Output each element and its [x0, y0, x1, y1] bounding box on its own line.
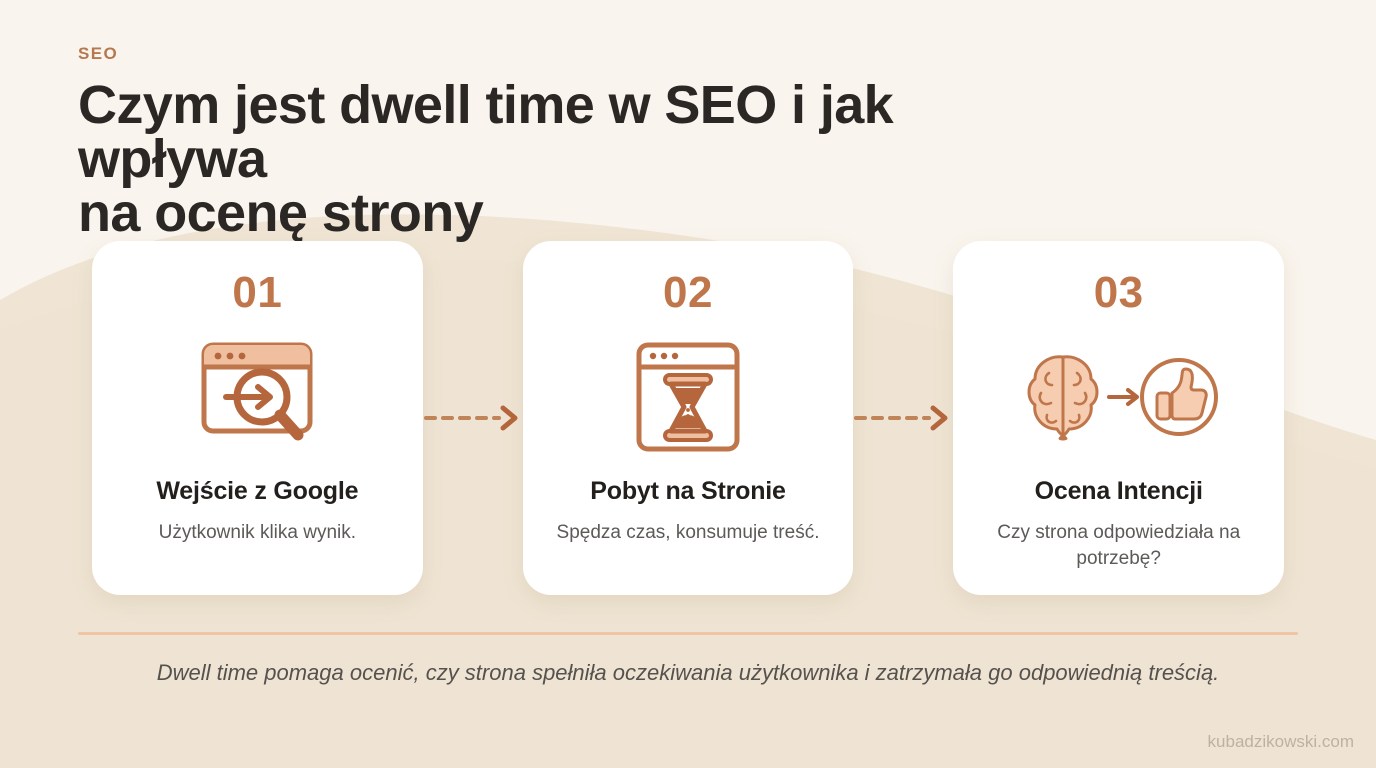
page-title: Czym jest dwell time w SEO i jak wpływa …	[78, 78, 958, 240]
brain-icon	[1029, 357, 1097, 439]
dashed-arrow-right-icon	[853, 403, 953, 433]
step-description: Spędza czas, konsumuje treść.	[557, 520, 820, 546]
step-number: 03	[1094, 271, 1144, 315]
step-number: 02	[663, 271, 713, 315]
step-number: 01	[232, 271, 282, 315]
step-description: Użytkownik klika wynik.	[159, 520, 356, 546]
step-title: Ocena Intencji	[1035, 477, 1203, 506]
brain-arrow-thumbsup-icon	[1019, 339, 1219, 455]
footer-note: Dwell time pomaga ocenić, czy strona spe…	[0, 660, 1376, 686]
step-title: Wejście z Google	[156, 477, 358, 506]
footer-divider	[78, 632, 1298, 635]
connector-2	[853, 241, 953, 595]
dashed-arrow-right-icon	[423, 403, 523, 433]
eyebrow-label: SEO	[78, 44, 958, 64]
watermark: kubadzikowski.com	[1208, 732, 1354, 752]
step-card-3[interactable]: 03	[953, 241, 1284, 595]
steps-row: 01 Wejście z Google Użytkownik klika wyn…	[92, 241, 1284, 595]
browser-hourglass-icon	[625, 339, 751, 455]
arrow-right-icon	[1109, 390, 1137, 404]
connector-1	[423, 241, 523, 595]
browser-search-entry-icon	[194, 339, 320, 455]
step-card-1[interactable]: 01 Wejście z Google Użytkownik klika wyn…	[92, 241, 423, 595]
step-description: Czy strona odpowiedziała na potrzebę?	[975, 520, 1262, 572]
header: SEO Czym jest dwell time w SEO i jak wpł…	[78, 44, 958, 240]
thumbs-up-icon	[1142, 360, 1216, 434]
step-title: Pobyt na Stronie	[590, 477, 785, 506]
step-card-2[interactable]: 02 Pobyt na Stronie	[523, 241, 854, 595]
